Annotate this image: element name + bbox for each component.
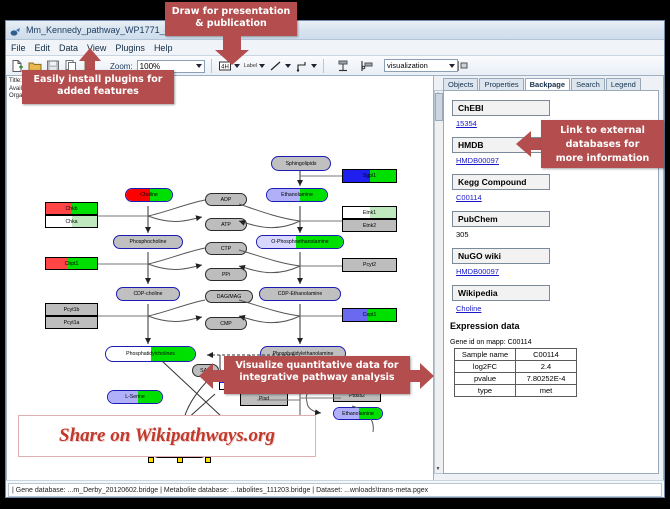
db-link-kegg[interactable]: C00114 bbox=[456, 193, 658, 202]
visualization-value: visualization bbox=[387, 61, 428, 70]
node-label: Ethanolamine bbox=[342, 411, 374, 417]
node-cept1[interactable]: Cept1 bbox=[342, 308, 397, 322]
callout-share: Share on Wikipathways.org bbox=[18, 415, 316, 457]
table-row: type met bbox=[455, 385, 577, 397]
line-icon[interactable] bbox=[269, 59, 283, 73]
expression-data-heading: Expression data bbox=[450, 321, 658, 331]
callout-plugins-line2: added features bbox=[28, 86, 168, 98]
node-label: Chkb bbox=[65, 206, 77, 212]
node-sgpl1[interactable]: Sgpl1 bbox=[342, 169, 397, 183]
scrollbar-thumb[interactable] bbox=[435, 93, 443, 121]
tab-legend[interactable]: Legend bbox=[606, 78, 641, 90]
selection-handle-sw[interactable] bbox=[148, 457, 154, 463]
callout-links: Link to external databases for more info… bbox=[541, 120, 664, 168]
expr-value: 2.4 bbox=[516, 361, 577, 373]
callout-draw-line2: & publication bbox=[171, 18, 291, 30]
node-label: Etnk1 bbox=[363, 210, 376, 216]
expr-key: type bbox=[455, 385, 516, 397]
expr-key: Sample name bbox=[455, 349, 516, 361]
callout-plugins: Easily install plugins for added feature… bbox=[22, 70, 174, 104]
callout-share-text: Share on Wikipathways.org bbox=[59, 425, 275, 447]
toolbar-separator bbox=[323, 59, 324, 73]
callout-visualize-line2: integrative pathway analysis bbox=[230, 372, 404, 384]
node-label: ATP bbox=[221, 222, 231, 228]
db-entry-nugo: NuGO wiki HMDB00097 bbox=[452, 246, 658, 276]
expr-value: C00114 bbox=[516, 349, 577, 361]
app-icon bbox=[10, 25, 21, 36]
node-chkb[interactable]: Chkb bbox=[45, 202, 98, 215]
connector-tool[interactable] bbox=[295, 59, 317, 73]
callout-links-line3: more information bbox=[547, 152, 658, 166]
node-label: Ethanolamine bbox=[281, 192, 313, 198]
node-ethanolamine-bottom[interactable]: Ethanolamine bbox=[333, 407, 383, 420]
node-label: Cept1 bbox=[363, 312, 377, 318]
order-icon[interactable] bbox=[456, 59, 470, 73]
node-ethanolamine-top[interactable]: Ethanolamine bbox=[266, 188, 328, 202]
node-label: DAG/MAG bbox=[217, 294, 242, 300]
node-label: CTP bbox=[221, 246, 231, 252]
expr-key: log2FC bbox=[455, 361, 516, 373]
line-tool[interactable] bbox=[269, 59, 291, 73]
node-label: L-Serine bbox=[125, 394, 145, 400]
status-bar: | Gene database: ...m_Derby_20120602.bri… bbox=[6, 480, 664, 497]
scroll-down-icon[interactable]: ▼ bbox=[435, 466, 441, 473]
expression-table: Sample name C00114 log2FC 2.4 pvalue 7.8… bbox=[454, 348, 577, 397]
node-o-phosphoethanolamine[interactable]: O-Phosphoethanolamine bbox=[256, 235, 344, 249]
tab-search[interactable]: Search bbox=[571, 78, 605, 90]
toolbar-separator bbox=[211, 59, 212, 73]
connector-icon[interactable] bbox=[295, 59, 309, 73]
node-l-serine-left[interactable]: L-Serine bbox=[107, 390, 163, 404]
panel-tabs: Objects Properties Backpage Search Legen… bbox=[434, 76, 663, 90]
status-text: | Gene database: ...m_Derby_20120602.bri… bbox=[8, 483, 662, 497]
callout-visualize-line1: Visualize quantitative data for bbox=[230, 360, 404, 372]
chevron-down-icon bbox=[196, 64, 202, 68]
node-label: Pcyt2 bbox=[363, 262, 376, 268]
align-center-icon[interactable] bbox=[336, 59, 350, 73]
node-label: PPi bbox=[222, 272, 230, 278]
node-label: ADP bbox=[221, 197, 232, 203]
visualization-combobox[interactable]: visualization bbox=[384, 59, 458, 72]
node-label: Pisd bbox=[259, 396, 269, 402]
selection-handle-se[interactable] bbox=[205, 457, 211, 463]
callout-draw-arrow bbox=[215, 36, 249, 66]
db-name-chebi: ChEBI bbox=[452, 100, 550, 116]
menu-item-plugins[interactable]: Plugins bbox=[115, 43, 145, 53]
callout-visualize: Visualize quantitative data for integrat… bbox=[224, 356, 410, 394]
node-label: Sphingolipids bbox=[286, 161, 317, 167]
menu-item-data[interactable]: Data bbox=[59, 43, 78, 53]
node-label: Pcyt1a bbox=[64, 320, 80, 326]
screenshot-root: Mm_Kennedy_pathway_WP1771_45176.gpml Fil… bbox=[0, 0, 670, 509]
callout-plugins-line1: Easily install plugins for bbox=[28, 74, 168, 86]
db-entry-kegg: Kegg Compound C00114 bbox=[452, 172, 658, 202]
callout-draw: Draw for presentation & publication bbox=[165, 2, 297, 36]
tab-properties[interactable]: Properties bbox=[479, 78, 523, 90]
menu-bar: File Edit Data View Plugins Help bbox=[6, 40, 664, 56]
expression-gene-id: Gene id on mapp: C00114 bbox=[450, 339, 658, 346]
chevron-down-icon[interactable] bbox=[259, 64, 265, 68]
db-link-wikipedia[interactable]: Choline bbox=[456, 304, 658, 313]
title-bar: Mm_Kennedy_pathway_WP1771_45176.gpml bbox=[6, 21, 664, 40]
node-label: CDP-Ethanolamine bbox=[278, 291, 322, 297]
node-label: CDP-choline bbox=[133, 291, 162, 297]
callout-visualize-arrow-right bbox=[408, 363, 434, 389]
menu-item-help[interactable]: Help bbox=[154, 43, 173, 53]
node-choline-top[interactable]: Choline bbox=[125, 188, 173, 202]
callout-links-line1: Link to external bbox=[547, 124, 658, 138]
node-label: Phosphocholine bbox=[130, 239, 167, 245]
db-link-nugo[interactable]: HMDB00097 bbox=[456, 267, 658, 276]
table-row: Sample name C00114 bbox=[455, 349, 577, 361]
callout-draw-line1: Draw for presentation bbox=[171, 6, 291, 18]
align-left-icon[interactable] bbox=[360, 59, 374, 73]
node-chpt1[interactable]: Chpt1 bbox=[45, 257, 98, 270]
node-label: Sgpl1 bbox=[363, 173, 376, 179]
expr-value: met bbox=[516, 385, 577, 397]
expr-key: pvalue bbox=[455, 373, 516, 385]
db-value-pubchem: 305 bbox=[456, 230, 658, 239]
callout-links-line2: databases for bbox=[547, 138, 658, 152]
chevron-down-icon bbox=[449, 64, 455, 68]
table-row: log2FC 2.4 bbox=[455, 361, 577, 373]
db-name-kegg: Kegg Compound bbox=[452, 174, 550, 190]
node-label: Chpt1 bbox=[65, 261, 79, 267]
menu-item-file[interactable]: File bbox=[11, 43, 26, 53]
node-label: Choline bbox=[140, 192, 158, 198]
db-name-nugo: NuGO wiki bbox=[452, 248, 550, 264]
db-entry-wikipedia: Wikipedia Choline bbox=[452, 283, 658, 313]
node-label: Chka bbox=[65, 219, 77, 225]
db-name-wikipedia: Wikipedia bbox=[452, 285, 550, 301]
callout-visualize-arrow-left bbox=[199, 363, 227, 389]
selection-handle-s[interactable] bbox=[177, 457, 183, 463]
node-label: O-Phosphoethanolamine bbox=[271, 239, 328, 245]
node-label: CMP bbox=[220, 321, 232, 327]
db-entry-pubchem: PubChem 305 bbox=[452, 209, 658, 239]
tab-objects[interactable]: Objects bbox=[443, 78, 478, 90]
node-label: Phosphatidylcholines bbox=[126, 351, 175, 357]
chevron-down-icon[interactable] bbox=[285, 64, 291, 68]
node-label: Pcyt1b bbox=[64, 307, 80, 313]
menu-item-edit[interactable]: Edit bbox=[35, 43, 51, 53]
node-label: Etnk2 bbox=[363, 223, 376, 229]
chevron-down-icon[interactable] bbox=[311, 64, 317, 68]
expr-value: 7.80252E-4 bbox=[516, 373, 577, 385]
db-name-pubchem: PubChem bbox=[452, 211, 550, 227]
table-row: pvalue 7.80252E-4 bbox=[455, 373, 577, 385]
tab-backpage[interactable]: Backpage bbox=[525, 78, 570, 90]
